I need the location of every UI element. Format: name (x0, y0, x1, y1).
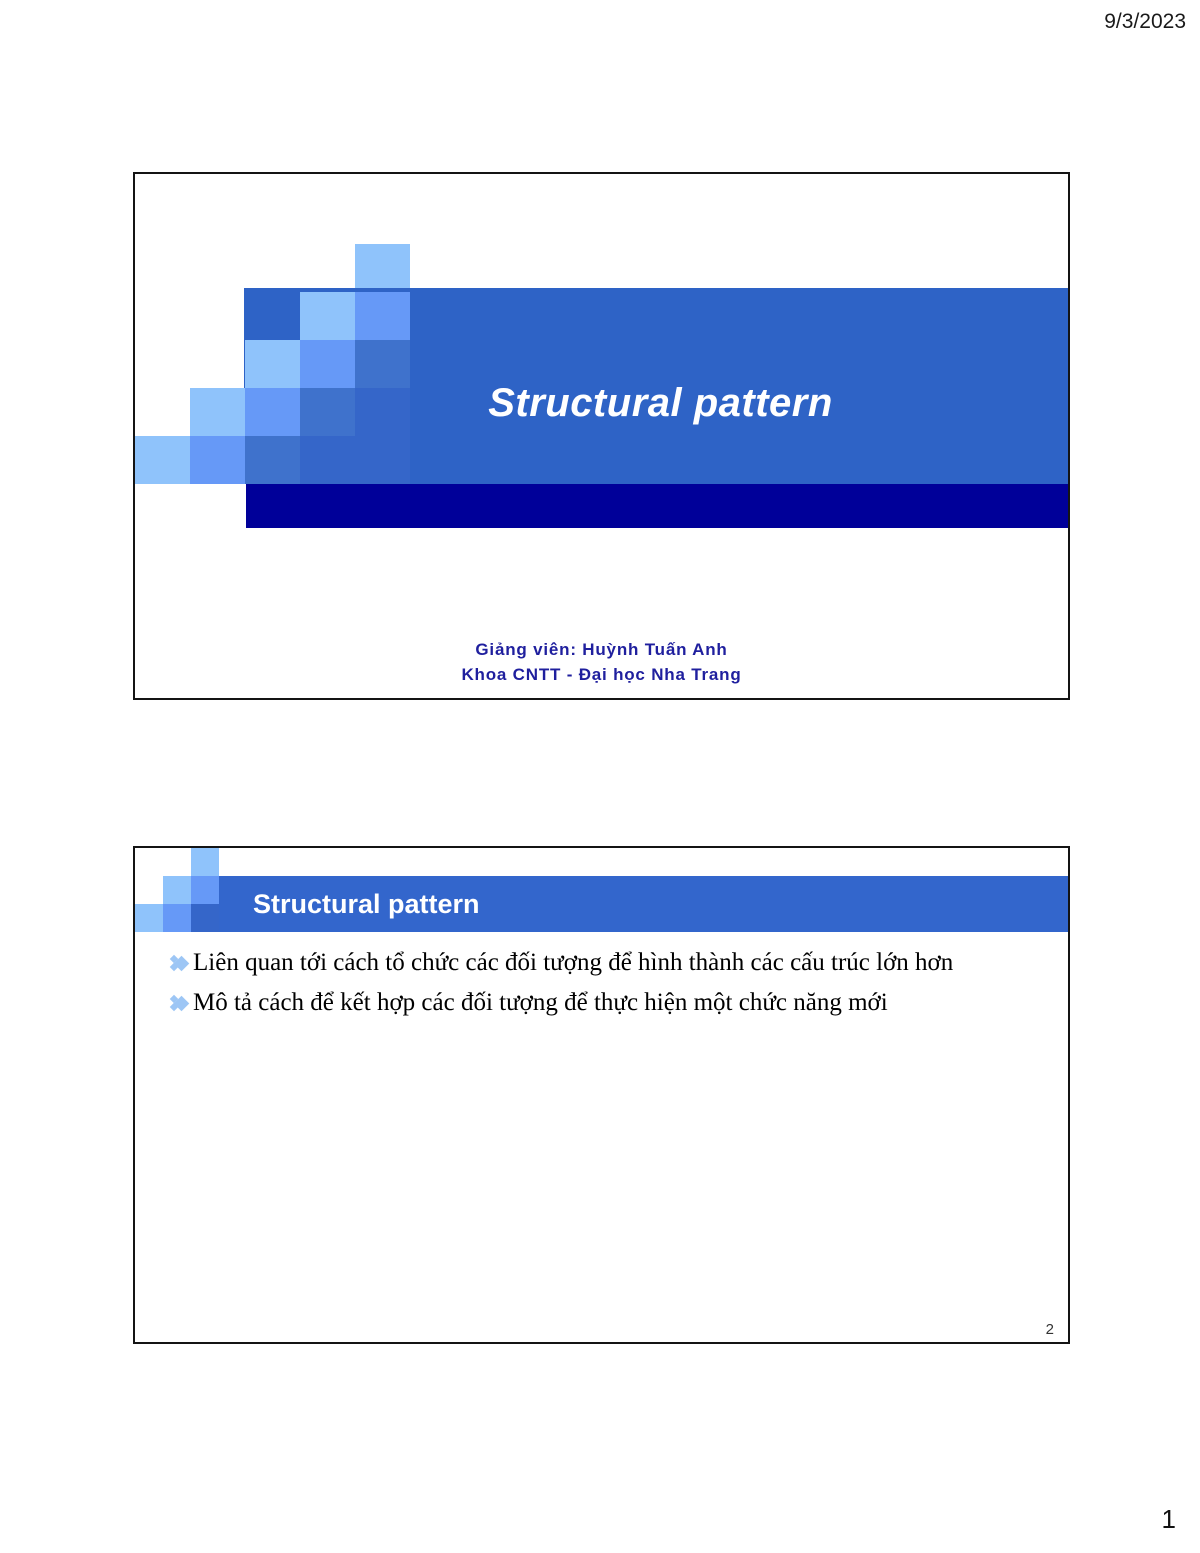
title-navy-bar (246, 484, 1068, 528)
handout-page-number: 1 (1162, 1504, 1176, 1535)
content-stair-overlay-1 (191, 904, 219, 932)
subtitle-faculty: Khoa CNTT - Đại học Nha Trang (135, 662, 1068, 687)
content-stair-light-3 (191, 848, 219, 876)
handout-date: 9/3/2023 (1104, 10, 1186, 34)
slide-content[interactable]: Structural pattern Liên quan tới cách tổ… (133, 846, 1070, 1344)
stair-square-light-overlap-4 (135, 436, 190, 484)
diamond-bullet-icon (171, 943, 193, 983)
content-header-title: Structural pattern (253, 889, 480, 920)
slide-title-heading: Structural pattern (135, 381, 1068, 426)
content-stair-light-overlay-2 (135, 904, 163, 932)
content-stair-mid-overlay-2 (163, 904, 191, 932)
stair-step-overlay-3 (245, 436, 300, 484)
bullet-text: Mô tả cách để kết hợp các đối tượng để t… (193, 983, 1050, 1023)
stair-square-light-5 (355, 244, 410, 292)
stair-square-mid-overlap-4 (190, 436, 245, 484)
bullet-item: Mô tả cách để kết hợp các đối tượng để t… (171, 983, 1050, 1023)
bullet-item: Liên quan tới cách tổ chức các đối tượng… (171, 943, 1050, 983)
stair-square-light-overlap-1 (300, 292, 355, 340)
content-stair-mid-overlay (191, 876, 219, 904)
stair-square-mid-overlap-1 (355, 292, 410, 340)
stair-step-overlay-4 (300, 436, 410, 484)
diamond-bullet-icon (171, 983, 193, 1023)
bullet-text: Liên quan tới cách tổ chức các đối tượng… (193, 943, 1050, 983)
slide-subtitle: Giảng viên: Huỳnh Tuấn Anh Khoa CNTT - Đ… (135, 637, 1068, 687)
slide-number: 2 (1046, 1321, 1054, 1338)
subtitle-lecturer: Giảng viên: Huỳnh Tuấn Anh (135, 637, 1068, 662)
slide-title[interactable]: Structural pattern Giảng viên: Huỳnh Tuấ… (133, 172, 1070, 700)
content-stair-light-overlay (163, 876, 191, 904)
bullet-list: Liên quan tới cách tổ chức các đối tượng… (171, 943, 1050, 1023)
